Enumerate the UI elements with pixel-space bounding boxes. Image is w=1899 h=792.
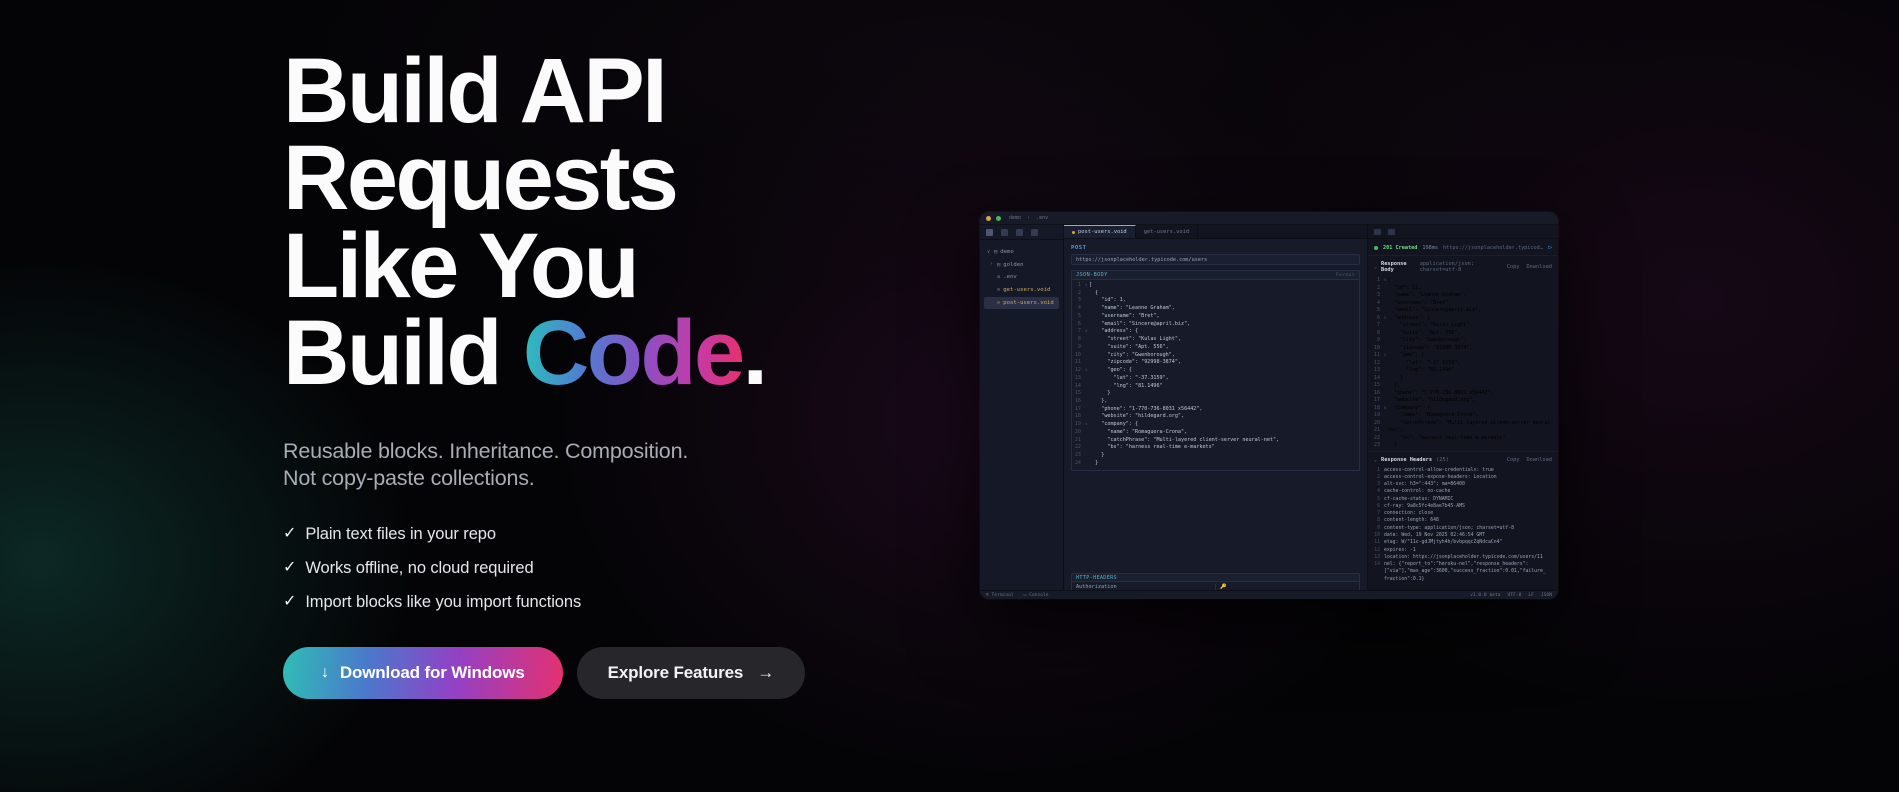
line-number: 11 <box>1374 539 1384 546</box>
line-number: 14 <box>1374 561 1384 568</box>
line-number: 21 <box>1072 437 1085 445</box>
response-headers-count: (25) <box>1436 457 1449 463</box>
code-line: "id": 11, <box>1388 285 1421 293</box>
app-body: ∨ ▤ demo › ▤ golden ≡ .env <box>980 225 1558 599</box>
run-icon[interactable]: ▷ <box>1548 244 1552 251</box>
subhead-line-2: Not copy-paste collections. <box>283 465 983 492</box>
tree-item-label: golden <box>1003 260 1023 271</box>
code-line: "username": "Bret", <box>1388 300 1451 308</box>
response-status-line: 201 Created 198ms https://jsonplaceholde… <box>1368 239 1558 255</box>
header-line: content-length: 648 <box>1384 517 1439 524</box>
activity-bar <box>980 225 1063 240</box>
tree-item-label: .env <box>1003 272 1016 283</box>
line-number: 10 <box>1072 352 1085 360</box>
line-number: 12 <box>1374 547 1384 554</box>
app-statusbar: ⌘ Terminal ▭ Console v1.0.0 beta UTF-8 L… <box>980 590 1558 599</box>
code-line: } <box>1388 375 1403 383</box>
tree-item-golden[interactable]: › ▤ golden <box>984 259 1059 272</box>
line-number: 19 <box>1072 421 1085 429</box>
code-line: "zipcode": "92998-3874", <box>1388 345 1472 353</box>
code-line: "geo": { <box>1089 367 1132 375</box>
line-number: 23 <box>1374 442 1384 450</box>
response-toolbar <box>1368 225 1558 239</box>
app-titlebar: demo › .env <box>980 212 1558 225</box>
code-line: "bs": "harness real-time e-markets" <box>1388 435 1505 443</box>
send-icon[interactable] <box>1388 229 1395 235</box>
tab-get-users[interactable]: get-users.void <box>1136 225 1198 238</box>
flask-icon[interactable] <box>1031 229 1038 236</box>
feature-bullet-list: ✓ Plain text files in your repo ✓ Works … <box>283 525 983 612</box>
code-line: } <box>1089 452 1104 460</box>
line-number: 16 <box>1072 398 1085 406</box>
code-line: "name": "Leanne Graham", <box>1388 292 1466 300</box>
header-line: connection: close <box>1384 510 1433 517</box>
http-headers-label: HTTP-HEADERS <box>1076 575 1117 581</box>
code-line: "id": 1, <box>1089 297 1126 305</box>
tree-item-demo[interactable]: ∨ ▤ demo <box>984 246 1059 259</box>
console-button[interactable]: ▭ Console <box>1024 593 1049 598</box>
check-icon: ✓ <box>283 560 296 576</box>
code-line: } <box>1388 442 1397 450</box>
terminal-button[interactable]: ⌘ Terminal <box>986 593 1014 598</box>
response-body-code[interactable]: 1∨{ 2 "id": 11, 3 "name": "Leanne Graham… <box>1368 276 1558 451</box>
response-headers-actions: Copy Download <box>1507 457 1552 463</box>
header-line: nel: {"report_to":"heroku-nel","response… <box>1384 561 1528 568</box>
code-line: "phone": "1-770-736-8031 x56442", <box>1388 390 1493 398</box>
tree-item-post-users[interactable]: ∞ post-users.void <box>984 297 1059 310</box>
code-line: "suite": "Apt. 556", <box>1388 330 1460 338</box>
line-number: 20 <box>1072 429 1085 437</box>
request-method-label: POST <box>1071 245 1360 251</box>
response-body-label: Response Body <box>1381 261 1416 273</box>
language-label[interactable]: JSON <box>1541 593 1552 598</box>
status-badge: 201 Created <box>1383 245 1417 251</box>
code-line: "lat": "-37.3159", <box>1089 375 1169 383</box>
response-panel: 201 Created 198ms https://jsonplaceholde… <box>1368 225 1558 599</box>
line-number: 15 <box>1072 390 1085 398</box>
statusbar-right: v1.0.0 beta UTF-8 LF JSON <box>1470 593 1552 598</box>
header-line: access-control-allow-credentials: true <box>1384 467 1494 474</box>
response-body-section-header[interactable]: ⌄ Response Body application/json; charse… <box>1368 255 1558 276</box>
line-number: 4 <box>1374 488 1384 495</box>
folder-icon: ▤ <box>997 260 1000 270</box>
line-number: 8 <box>1374 330 1384 338</box>
chevron-down-icon[interactable]: ⌄ <box>1374 264 1377 270</box>
hero-subheading: Reusable blocks. Inheritance. Compositio… <box>283 438 983 492</box>
line-number: 11 <box>1072 359 1085 367</box>
check-icon: ✓ <box>283 594 296 610</box>
tab-label: post-users.void <box>1078 229 1127 235</box>
window-dot-yellow-icon[interactable] <box>986 216 991 221</box>
back-icon[interactable] <box>1374 229 1381 235</box>
code-line: "lng": "81.1496" <box>1089 383 1163 391</box>
json-body-section-header[interactable]: JSON-BODY Format <box>1071 270 1360 280</box>
line-number: 18 <box>1374 405 1384 413</box>
request-url-value: https://jsonplaceholder.typicode.com/use… <box>1076 257 1207 263</box>
code-line: "bs": "harness real-time e-markets" <box>1089 444 1215 452</box>
copy-button[interactable]: Copy <box>1507 457 1520 463</box>
header-line: fraction":0.1} <box>1384 576 1424 583</box>
bullet-label: Works offline, no cloud required <box>305 559 533 578</box>
header-line: content-type: application/json; charset=… <box>1384 525 1514 532</box>
file-icon: ≡ <box>997 272 1000 282</box>
code-line: "city": "Gwenborough", <box>1089 352 1175 360</box>
line-number: 16 <box>1374 390 1384 398</box>
code-line: "company": { <box>1089 421 1138 429</box>
header-line: date: Wed, 19 Nov 2025 02:46:54 GMT <box>1384 532 1485 539</box>
code-line: "street": "Kulas Light", <box>1388 322 1472 330</box>
headline-line-3: Like You <box>283 223 983 310</box>
line-number: 6 <box>1374 503 1384 510</box>
code-line: "website": "hildegard.org", <box>1089 413 1184 421</box>
line-number: 5 <box>1072 313 1085 321</box>
line-number: 11 <box>1374 352 1384 360</box>
download-button[interactable]: Download <box>1526 457 1552 463</box>
line-number: 1 <box>1374 467 1384 474</box>
explore-features-button[interactable]: Explore Features → <box>577 647 805 699</box>
void-file-icon: ∞ <box>997 285 1000 295</box>
line-number: 12 <box>1072 367 1085 375</box>
code-line: "name": "Romaguera-Crona", <box>1388 412 1478 420</box>
app-screenshot-preview: demo › .env ∨ ▤ demo <box>980 212 1558 599</box>
line-number: 14 <box>1374 375 1384 383</box>
editor-scroll-area[interactable]: POST https://jsonplaceholder.typicode.co… <box>1064 239 1367 599</box>
line-number: 12 <box>1374 360 1384 368</box>
header-line: location: https://jsonplaceholder.typico… <box>1384 554 1543 561</box>
code-line: "catchPhrase": "Multi-layered client-ser… <box>1388 420 1554 428</box>
response-content-type: application/json; charset=utf-8 <box>1420 261 1503 273</box>
line-number: 19 <box>1374 412 1384 420</box>
line-number: 6 <box>1072 321 1085 329</box>
tree-item-label: post-users.void <box>1003 298 1054 309</box>
line-number: 3 <box>1374 481 1384 488</box>
line-number: 7 <box>1374 510 1384 517</box>
line-number: 17 <box>1374 397 1384 405</box>
breadcrumb: demo › .env <box>1009 215 1048 221</box>
header-line: expires: -1 <box>1384 547 1416 554</box>
response-headers-section-header[interactable]: ⌄ Response Headers (25) Copy Download <box>1368 451 1558 466</box>
line-number: 8 <box>1374 517 1384 524</box>
line-number: 21 <box>1374 427 1384 435</box>
code-line: "company": { <box>1388 405 1430 413</box>
list-item: ✓ Import blocks like you import function… <box>283 593 983 612</box>
response-url: https://jsonplaceholder.typicode.com/use… <box>1443 245 1543 251</box>
line-number: 20 <box>1374 420 1384 428</box>
code-line: "name": "Leanne Graham", <box>1089 305 1175 313</box>
line-number: 2 <box>1072 290 1085 298</box>
download-for-windows-button[interactable]: ↓ Download for Windows <box>283 647 563 699</box>
app-sidebar: ∨ ▤ demo › ▤ golden ≡ .env <box>980 225 1064 599</box>
code-line: [ <box>1089 282 1092 290</box>
line-number: 6 <box>1374 315 1384 323</box>
json-body-code[interactable]: 1∨[ 2 { 3 "id": 1, 4 "name": "Leanne Gra… <box>1071 280 1360 471</box>
check-icon: ✓ <box>283 526 296 542</box>
line-number <box>1374 568 1384 575</box>
line-number: 10 <box>1374 345 1384 353</box>
line-number: 22 <box>1072 444 1085 452</box>
code-line: } <box>1089 460 1098 468</box>
copy-button[interactable]: Copy <box>1507 264 1520 270</box>
files-icon[interactable] <box>986 229 993 236</box>
response-headers-label: Response Headers <box>1381 457 1432 463</box>
code-line: "phone": "1-770-736-8031 x56442", <box>1089 406 1202 414</box>
code-line: "address": { <box>1089 328 1138 336</box>
breadcrumb-separator: › <box>1027 215 1030 221</box>
encoding-label[interactable]: UTF-8 <box>1508 593 1522 598</box>
chevron-down-icon: ∨ <box>987 248 991 258</box>
chevron-down-icon[interactable]: ⌄ <box>1374 457 1377 463</box>
line-number: 2 <box>1374 474 1384 481</box>
list-item: ✓ Plain text files in your repo <box>283 525 983 544</box>
branch-icon[interactable] <box>1016 229 1023 236</box>
code-line: "website": "hildegard.org", <box>1388 397 1475 405</box>
code-line: "city": "Gwenborough", <box>1388 337 1466 345</box>
breadcrumb-item-1[interactable]: .env <box>1036 215 1048 221</box>
header-line: cache-control: no-cache <box>1384 488 1450 495</box>
line-number: 3 <box>1374 292 1384 300</box>
code-line: "name": "Romaguera-Crona", <box>1089 429 1187 437</box>
line-number: 9 <box>1374 337 1384 345</box>
chevron-right-icon: › <box>990 260 994 270</box>
status-dot-icon <box>1374 246 1378 250</box>
download-arrow-icon: ↓ <box>321 664 329 682</box>
line-number: 17 <box>1072 406 1085 414</box>
line-number: 5 <box>1374 496 1384 503</box>
download-button-label: Download for Windows <box>340 663 525 683</box>
code-line: } <box>1089 390 1110 398</box>
line-number: 3 <box>1072 297 1085 305</box>
tree-item-label: demo <box>1000 247 1013 258</box>
code-line: }, <box>1089 398 1107 406</box>
tree-item-label: get-users.void <box>1003 285 1050 296</box>
eol-label[interactable]: LF <box>1528 593 1534 598</box>
headline-prefix: Build <box>283 302 523 404</box>
unsaved-dot-icon <box>1072 231 1075 234</box>
code-line: "zipcode": "92998-3874", <box>1089 359 1181 367</box>
line-number: 15 <box>1374 382 1384 390</box>
request-url-input[interactable]: https://jsonplaceholder.typicode.com/use… <box>1071 254 1360 265</box>
code-line: "geo": { <box>1388 352 1424 360</box>
code-line: "suite": "Apt. 556", <box>1089 344 1169 352</box>
folder-icon: ▤ <box>994 247 997 257</box>
line-number: 7 <box>1072 328 1085 336</box>
hero-section: Build API Requests Like You Build Code. … <box>283 48 983 699</box>
line-number: 13 <box>1072 375 1085 383</box>
header-line: etag: W/"11c-gdJMjtyh4h/bvbpqqcZqNdcaCn4… <box>1384 539 1502 546</box>
file-tree: ∨ ▤ demo › ▤ golden ≡ .env <box>980 240 1063 315</box>
line-number: 1 <box>1072 282 1085 290</box>
http-headers-section-header[interactable]: HTTP-HEADERS <box>1071 573 1360 582</box>
code-line: "email": "Sincere@april.biz", <box>1388 307 1481 315</box>
code-line: "username": "Bret", <box>1089 313 1160 321</box>
line-number: 23 <box>1072 452 1085 460</box>
code-line: net", <box>1388 427 1403 435</box>
tree-item-get-users[interactable]: ∞ get-users.void <box>984 284 1059 297</box>
void-file-icon: ∞ <box>997 298 1000 308</box>
code-line: "lat": "-37.3159", <box>1388 360 1460 368</box>
line-number: 9 <box>1374 525 1384 532</box>
header-line: alt-svc: h3=":443"; ma=86400 <box>1384 481 1465 488</box>
code-line: { <box>1089 290 1098 298</box>
code-line: "lng": "81.1496" <box>1388 367 1454 375</box>
header-line: cf-ray: 9a8c5fc4e8ae7b45-AMS <box>1384 503 1465 510</box>
request-editor: post-users.void get-users.void POST http… <box>1064 225 1368 599</box>
line-number: 4 <box>1072 305 1085 313</box>
landing-page: Build API Requests Like You Build Code. … <box>0 0 1899 792</box>
subhead-line-1: Reusable blocks. Inheritance. Compositio… <box>283 438 983 465</box>
arrow-right-icon: → <box>757 663 774 683</box>
line-number: 1 <box>1374 277 1384 285</box>
line-number: 4 <box>1374 300 1384 308</box>
line-number: 10 <box>1374 532 1384 539</box>
json-body-label: JSON-BODY <box>1076 272 1108 278</box>
editor-tab-bar: post-users.void get-users.void <box>1064 225 1367 239</box>
explore-button-label: Explore Features <box>608 663 744 683</box>
line-number: 14 <box>1072 383 1085 391</box>
tree-item-env[interactable]: ≡ .env <box>984 271 1059 284</box>
format-action[interactable]: Format <box>1336 273 1355 278</box>
line-number: 8 <box>1072 336 1085 344</box>
tab-label: get-users.void <box>1144 229 1189 235</box>
line-number: 5 <box>1374 307 1384 315</box>
headline-line-2: Requests <box>283 135 983 222</box>
version-label: v1.0.0 beta <box>1470 593 1500 598</box>
tab-post-users[interactable]: post-users.void <box>1064 225 1136 238</box>
code-line: "street": "Kulas Light", <box>1089 336 1181 344</box>
line-number: 18 <box>1072 413 1085 421</box>
headline-line-1: Build API <box>283 48 983 135</box>
headline-period: . <box>743 302 766 404</box>
line-number: 13 <box>1374 367 1384 375</box>
breadcrumb-item-0[interactable]: demo <box>1009 215 1021 221</box>
code-line: { <box>1388 277 1391 285</box>
line-number: 24 <box>1072 460 1085 468</box>
line-number: 9 <box>1072 344 1085 352</box>
response-body-actions: Copy Download <box>1507 264 1552 270</box>
download-button[interactable]: Download <box>1526 264 1552 270</box>
response-headers-list[interactable]: 1access-control-allow-credentials: true … <box>1368 466 1558 585</box>
header-line: ["via"],"max_age":3600,"success_fraction… <box>1384 568 1546 575</box>
line-number: 13 <box>1374 554 1384 561</box>
code-line: }, <box>1388 382 1400 390</box>
search-icon[interactable] <box>1001 229 1008 236</box>
cta-button-row: ↓ Download for Windows Explore Features … <box>283 647 983 699</box>
bullet-label: Import blocks like you import functions <box>305 593 581 612</box>
line-number: 22 <box>1374 435 1384 443</box>
page-title: Build API Requests Like You Build Code. <box>283 48 983 398</box>
line-number <box>1374 576 1384 583</box>
code-line: "address": { <box>1388 315 1430 323</box>
line-number: 2 <box>1374 285 1384 293</box>
code-line: "catchPhrase": "Multi-layered client-ser… <box>1089 437 1279 445</box>
headline-gradient-word: Code <box>523 302 743 404</box>
list-item: ✓ Works offline, no cloud required <box>283 559 983 578</box>
code-line: "email": "Sincere@april.biz", <box>1089 321 1190 329</box>
header-line: access-control-expose-headers: Location <box>1384 474 1497 481</box>
window-dot-green-icon[interactable] <box>996 216 1001 221</box>
header-line: cf-cache-status: DYNAMIC <box>1384 496 1453 503</box>
response-duration: 198ms <box>1422 245 1438 251</box>
bullet-label: Plain text files in your repo <box>305 525 496 544</box>
line-number: 7 <box>1374 322 1384 330</box>
headline-line-4: Build Code. <box>283 310 983 397</box>
